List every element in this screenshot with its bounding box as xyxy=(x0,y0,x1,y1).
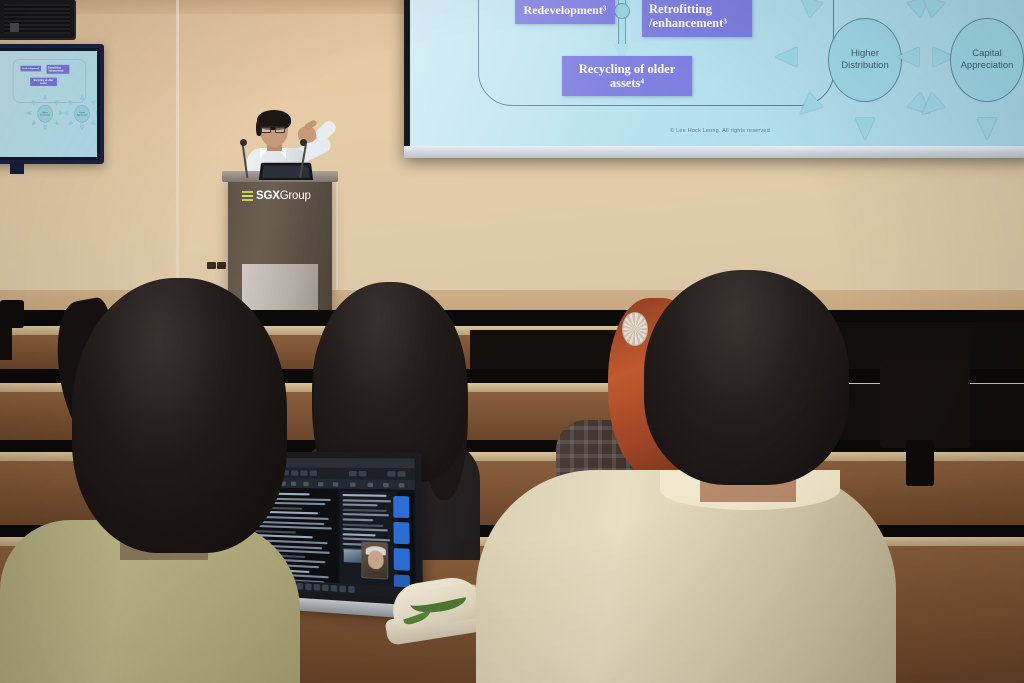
mini-starburst-2: Capital Appreciation xyxy=(67,98,97,129)
speaker-driver-icon xyxy=(10,23,19,32)
projection-screen-surface: Redevelopment³ Retrofitting /enhancement… xyxy=(410,0,1024,146)
starburst-1-line-1: Higher xyxy=(851,48,879,60)
chair-left-back xyxy=(0,300,24,328)
audience-1-hair xyxy=(72,278,287,553)
laptop-inline-image xyxy=(344,549,362,563)
ceiling-speaker xyxy=(0,0,76,40)
wall-seam xyxy=(176,0,179,300)
confidence-monitor-screen: Redevelopment³ Retrofitting /enhancement… xyxy=(0,51,97,157)
starburst-2-line-1: Capital xyxy=(972,48,1002,60)
recycling-line-1: Recycling of older xyxy=(579,62,676,76)
wall-seam-secondary xyxy=(336,175,338,305)
sun-ray-icon xyxy=(775,47,797,67)
retrofitting-line-1: Retrofitting xyxy=(649,2,712,16)
redevelopment-chip: Redevelopment³ xyxy=(515,0,615,24)
chair-leg-right xyxy=(906,440,934,486)
retrofitting-chip: Retrofitting /enhancement³ xyxy=(642,0,752,37)
recycling-chip: Recycling of older assets⁴ xyxy=(562,56,692,96)
lecture-hall-photo: Redevelopment³ Retrofitting /enhancement… xyxy=(0,0,1024,683)
confidence-monitor: Redevelopment³ Retrofitting /enhancement… xyxy=(0,44,104,164)
mini-recycling-chip: Recycling of older assets⁴ xyxy=(30,78,57,86)
microphone-icon-2 xyxy=(300,139,307,146)
starburst-1-core: Higher Distribution xyxy=(828,18,902,102)
sgx-group-logo: SGXGroup xyxy=(242,190,311,202)
hair-scrunchie xyxy=(622,312,648,346)
monitor-arm xyxy=(10,162,24,174)
audience-4-hair xyxy=(644,270,849,485)
retrofitting-line-2: /enhancement³ xyxy=(649,16,727,30)
sun-ray-icon xyxy=(793,92,823,122)
logo-text-bold: SGX xyxy=(256,190,280,202)
video-call-thumbnail[interactable] xyxy=(361,541,388,579)
microphone-icon xyxy=(240,139,247,146)
mini-starburst-1: Higher Distribution xyxy=(30,98,61,129)
glasses-icon xyxy=(261,126,287,132)
sun-ray-icon xyxy=(915,92,945,122)
power-socket xyxy=(207,262,216,269)
slide-copyright-footer: © Lee Hock Leong. All rights reserved xyxy=(410,128,1024,134)
starburst-2-line-2: Appreciation xyxy=(961,60,1014,72)
presentation-slide: Redevelopment³ Retrofitting /enhancement… xyxy=(410,0,1024,146)
screen-bottom-bar xyxy=(404,146,1024,158)
starburst-2-core: Capital Appreciation xyxy=(950,18,1024,102)
mini-retrofitting-chip: Retrofitting /enhancement³ xyxy=(47,65,70,74)
sun-ray-icon xyxy=(793,0,823,18)
starburst-capital-appreciation: Capital Appreciation xyxy=(912,0,1024,134)
three-bars-icon xyxy=(242,191,253,201)
lecture-chair-right xyxy=(880,360,970,448)
sun-ray-icon xyxy=(915,0,945,18)
starburst-1-line-2: Distribution xyxy=(841,60,889,72)
mini-redevelopment-chip: Redevelopment³ xyxy=(21,66,42,71)
projection-screen: Redevelopment³ Retrofitting /enhancement… xyxy=(404,0,1024,158)
confidence-monitor-slide-mirror: Redevelopment³ Retrofitting /enhancement… xyxy=(0,51,97,157)
lectern-podium: SGXGroup xyxy=(228,178,332,318)
recycling-line-2: assets⁴ xyxy=(610,76,644,90)
sun-ray-icon xyxy=(897,47,919,67)
logo-text-light: Group xyxy=(280,190,311,202)
podium-laptop xyxy=(259,163,313,180)
sgx-group-logo-text: SGXGroup xyxy=(256,190,311,202)
